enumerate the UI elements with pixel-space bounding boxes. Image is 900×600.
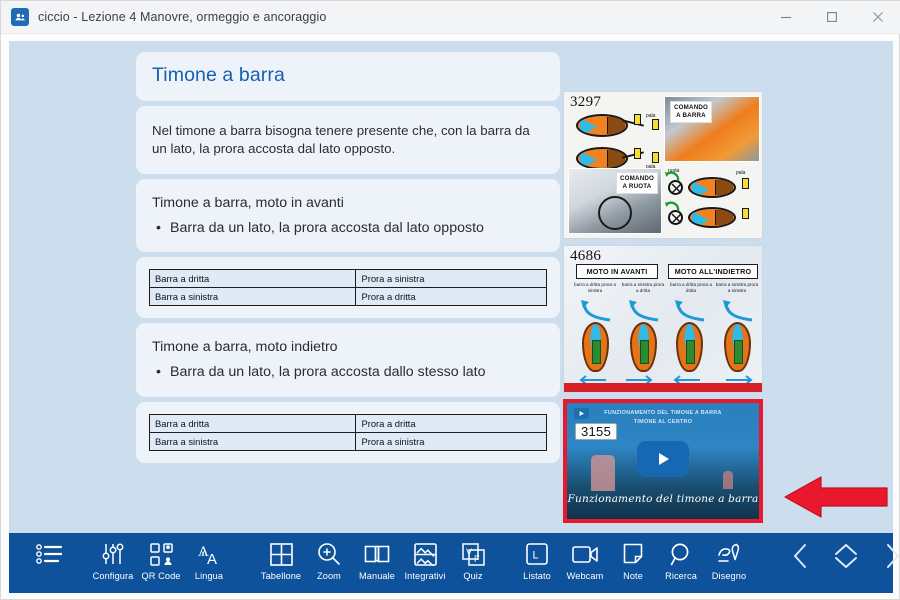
grid-table-icon: [270, 540, 293, 568]
close-button[interactable]: [855, 1, 900, 34]
note-icon: [622, 540, 644, 568]
table-cell: Barra a dritta: [150, 414, 356, 432]
toolbar-label: Note: [623, 571, 643, 581]
slide-title-card: Timone a barra: [136, 52, 560, 101]
intro-card: Nel timone a barra bisogna tenere presen…: [136, 106, 560, 174]
nav-previous-button[interactable]: [777, 533, 823, 593]
chevron-updown-icon: [832, 543, 860, 569]
toolbar-item-quiz[interactable]: V F Quiz: [449, 533, 497, 593]
webcam-icon: [572, 540, 598, 568]
thumbnail-4686[interactable]: 4686 MOTO IN AVANTI MOTO ALL'INDIETRO ba…: [563, 245, 763, 393]
svg-text:A: A: [207, 551, 217, 566]
bullet-text: Barra da un lato, la prora accosta dallo…: [170, 363, 485, 383]
slide-content-column: Timone a barra Nel timone a barra bisogn…: [136, 52, 560, 504]
window-controls: [763, 1, 900, 34]
toolbar-item-integrativi[interactable]: Integrativi: [401, 533, 449, 593]
section-heading: Timone a barra, moto in avanti: [152, 193, 544, 214]
chevron-right-icon: [884, 543, 900, 569]
turn-arrow-icon: [580, 300, 614, 324]
play-button[interactable]: [637, 441, 689, 477]
list-menu-icon: [36, 540, 62, 568]
intro-text: Nel timone a barra bisogna tenere presen…: [152, 122, 544, 159]
window-title: ciccio - Lezione 4 Manovre, ormeggio e a…: [38, 10, 326, 24]
banner-moto-all-indietro: MOTO ALL'INDIETRO: [668, 264, 758, 279]
video-caption: Funzionamento del timone a barra: [567, 493, 759, 505]
toolbar-item-zoom[interactable]: Zoom: [305, 533, 353, 593]
video-overlay-title-line1: FUNZIONAMENTO DEL TIMONE A BARRA: [567, 409, 759, 418]
listato-icon: L: [526, 540, 548, 568]
toolbar-item-manuale[interactable]: Manuale: [353, 533, 401, 593]
svg-text:F: F: [474, 554, 480, 564]
toolbar-item-disegno[interactable]: Disegno: [705, 533, 753, 593]
green-rotation-arrow-icon: [664, 201, 680, 213]
table-cell: Barra a sinistra: [150, 288, 356, 306]
fact-table-indietro: Barra a dritta Prora a dritta Barra a si…: [149, 414, 547, 451]
svg-text:L: L: [533, 550, 539, 562]
toolbar-label: Lingua: [195, 571, 223, 581]
boat-diagram-icon: [576, 114, 628, 137]
table-cell: Prora a dritta: [356, 288, 547, 306]
thumb-label: ruota: [668, 168, 679, 174]
thumb-label: pala: [646, 113, 655, 119]
thumbnail-number: 3155: [575, 423, 617, 440]
table-cell: Prora a dritta: [356, 414, 547, 432]
rudder-box-icon: [652, 152, 659, 163]
bullet-text: Barra da un lato, la prora accosta dal l…: [170, 219, 484, 239]
diagram-caption: barra a sinistra prora a sinistra: [714, 282, 760, 294]
table-cell: Barra a sinistra: [150, 432, 356, 450]
diagram-caption: barra a dritta prora a dritta: [668, 282, 714, 294]
bullet-marker-icon: •: [152, 219, 170, 239]
toolbar-label: Listato: [523, 571, 551, 581]
toolbar-label: Zoom: [317, 571, 341, 581]
bottom-toolbar: Configura QR Code Ѧ A: [9, 533, 893, 593]
toolbar-label: Integrativi: [405, 571, 446, 581]
chevron-left-icon: [792, 543, 809, 569]
toolbar-item-note[interactable]: Note: [609, 533, 657, 593]
diagram-caption: barra a dritta prora a sinistra: [572, 282, 618, 294]
toolbar-label: Webcam: [567, 571, 604, 581]
app-window: ciccio - Lezione 4 Manovre, ormeggio e a…: [0, 0, 900, 600]
toolbar-item-menu[interactable]: [25, 533, 73, 593]
toolbar-item-ricerca[interactable]: Ricerca: [657, 533, 705, 593]
banner-moto-in-avanti: MOTO IN AVANTI: [576, 264, 658, 279]
table-cell: Prora a sinistra: [356, 270, 547, 288]
slide-work-area: Timone a barra Nel timone a barra bisogn…: [9, 41, 893, 533]
thumbnail-column: 3297 pala pala COMANDO A BARRA: [563, 91, 775, 529]
search-icon: [670, 540, 693, 568]
toolbar-item-webcam[interactable]: Webcam: [561, 533, 609, 593]
rudder-box-icon: [742, 208, 749, 219]
annotation-left-arrow-icon: [783, 473, 891, 521]
boat-hull-icon: [630, 322, 657, 372]
section-card-avanti: Timone a barra, moto in avanti • Barra d…: [136, 179, 560, 252]
boat-diagram-icon: [688, 207, 736, 228]
fact-table-avanti: Barra a dritta Prora a sinistra Barra a …: [149, 269, 547, 306]
title-bar: ciccio - Lezione 4 Manovre, ormeggio e a…: [1, 1, 900, 34]
table-row: Barra a dritta Prora a sinistra: [150, 270, 547, 288]
minimize-button[interactable]: [763, 1, 809, 34]
svg-text:V: V: [466, 547, 472, 557]
table-row: Barra a sinistra Prora a sinistra: [150, 432, 547, 450]
red-band-decoration: [564, 383, 762, 392]
table-cell: Barra a dritta: [150, 270, 356, 288]
bullet-marker-icon: •: [152, 363, 170, 383]
toolbar-label: QR Code: [142, 571, 181, 581]
thumbnail-number: 4686: [570, 248, 601, 265]
toolbar-label: Disegno: [712, 571, 746, 581]
page-title: Timone a barra: [152, 64, 544, 87]
table-row: Barra a dritta Prora a dritta: [150, 414, 547, 432]
quiz-vf-icon: V F: [462, 540, 485, 568]
table-card-indietro: Barra a dritta Prora a dritta Barra a si…: [136, 402, 560, 463]
boat-diagram-icon: [688, 177, 736, 198]
section-card-indietro: Timone a barra, moto indietro • Barra da…: [136, 323, 560, 396]
boat-diagram-icon: [576, 147, 628, 170]
rudder-box-icon: [652, 119, 659, 130]
table-card-avanti: Barra a dritta Prora a sinistra Barra a …: [136, 257, 560, 318]
rudder-box-icon: [634, 148, 641, 159]
contacts-icon: [11, 8, 29, 26]
toolbar-label: Ricerca: [665, 571, 697, 581]
toolbar-item-tabellone[interactable]: Tabellone: [257, 533, 305, 593]
diagram-caption: barra a sinistra prora a dritta: [620, 282, 666, 294]
nav-next-button[interactable]: [869, 533, 900, 593]
photo-label: COMANDO A RUOTA: [616, 172, 658, 194]
photo-label: COMANDO A BARRA: [670, 101, 712, 123]
toolbar-label: Manuale: [359, 571, 395, 581]
images-icon: [414, 540, 437, 568]
turn-arrow-icon: [628, 300, 662, 324]
toolbar-label: Tabellone: [261, 571, 301, 581]
toolbar-item-configura[interactable]: Configura: [89, 533, 137, 593]
qrcode-icon: [150, 540, 173, 568]
sliders-icon: [101, 540, 125, 568]
table-cell: Prora a sinistra: [356, 432, 547, 450]
boat-hull-icon: [676, 322, 703, 372]
thumbnail-number: 3297: [570, 94, 601, 111]
thumbnail-3297[interactable]: 3297 pala pala COMANDO A BARRA: [563, 91, 763, 239]
rudder-box-icon: [742, 178, 749, 189]
scene-object-left: [591, 455, 615, 491]
thumb-label: pala: [736, 170, 745, 176]
wheel-ring-icon: [598, 196, 632, 230]
toolbar-item-lingua[interactable]: Ѧ A Lingua: [185, 533, 233, 593]
draw-pen-icon: [717, 540, 742, 568]
toolbar-item-qrcode[interactable]: QR Code: [137, 533, 185, 593]
toolbar-label: Quiz: [463, 571, 482, 581]
toolbar-label: Configura: [93, 571, 134, 581]
book-icon: [364, 540, 390, 568]
turn-arrow-icon: [674, 300, 708, 324]
thumbnail-3155-video[interactable]: 3155 FUNZIONAMENTO DEL TIMONE A BARRA TI…: [563, 399, 763, 523]
zoom-in-icon: [317, 540, 341, 568]
section-bullet: • Barra da un lato, la prora accosta dal…: [152, 219, 544, 239]
section-heading: Timone a barra, moto indietro: [152, 337, 544, 358]
nav-expand-button[interactable]: [823, 533, 869, 593]
section-bullet: • Barra da un lato, la prora accosta dal…: [152, 363, 544, 383]
rudder-box-icon: [634, 114, 641, 125]
scene-object-right: [723, 471, 733, 489]
boat-hull-icon: [582, 322, 609, 372]
boat-hull-icon: [724, 322, 751, 372]
translate-icon: Ѧ A: [197, 540, 221, 568]
table-row: Barra a sinistra Prora a dritta: [150, 288, 547, 306]
turn-arrow-icon: [722, 300, 756, 324]
toolbar-item-listato[interactable]: L Listato: [513, 533, 561, 593]
maximize-button[interactable]: [809, 1, 855, 34]
